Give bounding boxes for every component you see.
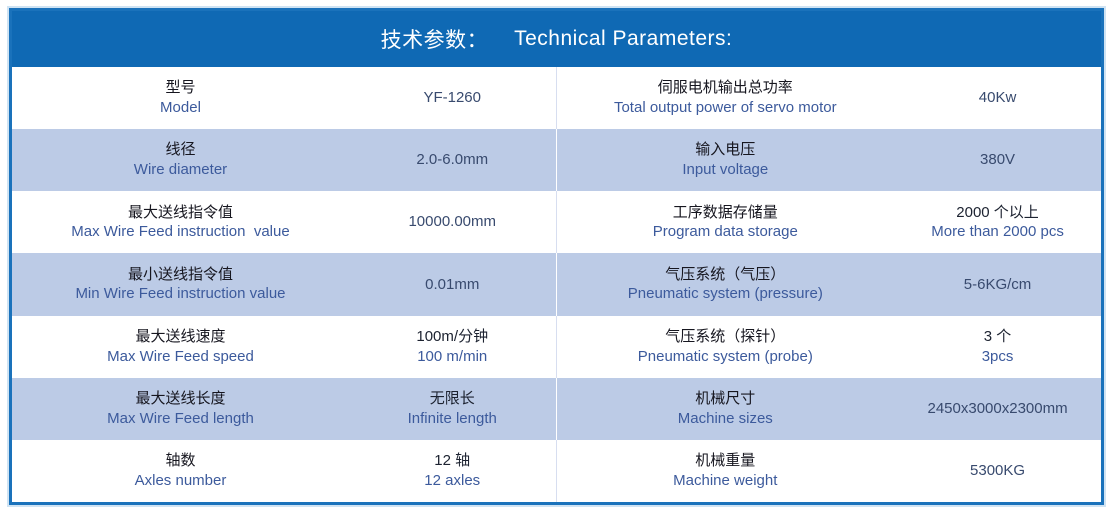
spec-cell-left: 轴数 Axles number 12 轴 12 axles	[12, 440, 557, 502]
spec-label: 气压系统（探针） Pneumatic system (probe)	[557, 327, 895, 367]
spec-label: 轴数 Axles number	[12, 451, 349, 491]
spec-cell-right: 气压系统（气压） Pneumatic system (pressure) 5-6…	[557, 253, 1102, 315]
technical-parameters-table: 技术参数： Technical Parameters: 型号 Model YF-…	[9, 8, 1104, 505]
spec-label-cn: 机械尺寸	[563, 389, 889, 409]
spec-label-en: Total output power of servo motor	[563, 98, 889, 118]
spec-value: 40Kw	[894, 88, 1101, 108]
spec-value-en: Infinite length	[355, 409, 550, 429]
table-row: 最小送线指令值 Min Wire Feed instruction value …	[12, 253, 1101, 315]
spec-label-en: Wire diameter	[18, 160, 343, 180]
spec-label-cn: 伺服电机输出总功率	[563, 78, 889, 98]
spec-label-cn: 输入电压	[563, 140, 889, 160]
spec-value: 100m/分钟 100 m/min	[349, 327, 556, 367]
spec-label-en: Min Wire Feed instruction value	[18, 284, 343, 304]
spec-label: 最大送线指令值 Max Wire Feed instruction value	[12, 203, 349, 243]
spec-cell-left: 最小送线指令值 Min Wire Feed instruction value …	[12, 253, 557, 315]
spec-value-en: 3pcs	[900, 347, 1095, 367]
spec-value-cn: 2.0-6.0mm	[355, 150, 550, 170]
spec-label-en: Axles number	[18, 471, 343, 491]
spec-label-en: Pneumatic system (pressure)	[563, 284, 889, 304]
table-row: 轴数 Axles number 12 轴 12 axles 机械重量 Machi…	[12, 440, 1101, 502]
table-row: 线径 Wire diameter 2.0-6.0mm 输入电压 Input vo…	[12, 129, 1101, 191]
spec-value-en: 12 axles	[355, 471, 550, 491]
spec-cell-right: 工序数据存储量 Program data storage 2000 个以上 Mo…	[557, 191, 1102, 253]
spec-label-cn: 机械重量	[563, 451, 889, 471]
spec-cell-right: 伺服电机输出总功率 Total output power of servo mo…	[557, 67, 1102, 129]
spec-label-en: Max Wire Feed instruction value	[18, 222, 343, 242]
spec-cell-left: 线径 Wire diameter 2.0-6.0mm	[12, 129, 557, 191]
spec-value: 5-6KG/cm	[894, 275, 1101, 295]
spec-label-cn: 型号	[18, 78, 343, 98]
spec-label-en: Max Wire Feed speed	[18, 347, 343, 367]
header-title-en: Technical Parameters:	[514, 27, 732, 51]
spec-value-cn: YF-1260	[355, 88, 550, 108]
spec-cell-right: 气压系统（探针） Pneumatic system (probe) 3 个 3p…	[557, 316, 1102, 378]
table-row: 最大送线速度 Max Wire Feed speed 100m/分钟 100 m…	[12, 316, 1101, 378]
spec-cell-left: 型号 Model YF-1260	[12, 67, 557, 129]
spec-label: 最大送线速度 Max Wire Feed speed	[12, 327, 349, 367]
spec-label-en: Input voltage	[563, 160, 889, 180]
spec-cell-right: 机械尺寸 Machine sizes 2450x3000x2300mm	[557, 378, 1102, 440]
spec-label-cn: 最大送线指令值	[18, 203, 343, 223]
spec-cell-right: 机械重量 Machine weight 5300KG	[557, 440, 1102, 502]
spec-label: 气压系统（气压） Pneumatic system (pressure)	[557, 265, 895, 305]
spec-cell-left: 最大送线长度 Max Wire Feed length 无限长 Infinite…	[12, 378, 557, 440]
spec-label: 伺服电机输出总功率 Total output power of servo mo…	[557, 78, 895, 118]
spec-cell-right: 输入电压 Input voltage 380V	[557, 129, 1102, 191]
spec-value: 12 轴 12 axles	[349, 451, 556, 491]
spec-value: 380V	[894, 150, 1101, 170]
spec-label-cn: 最大送线速度	[18, 327, 343, 347]
spec-label-cn: 气压系统（气压）	[563, 265, 889, 285]
spec-value-cn: 0.01mm	[355, 275, 550, 295]
spec-value: 5300KG	[894, 461, 1101, 481]
spec-cell-left: 最大送线速度 Max Wire Feed speed 100m/分钟 100 m…	[12, 316, 557, 378]
spec-value: YF-1260	[349, 88, 556, 108]
spec-label-cn: 最小送线指令值	[18, 265, 343, 285]
spec-label-cn: 最大送线长度	[18, 389, 343, 409]
spec-label-cn: 工序数据存储量	[563, 203, 889, 223]
spec-label: 输入电压 Input voltage	[557, 140, 895, 180]
spec-value-en: More than 2000 pcs	[900, 222, 1095, 242]
spec-value: 2000 个以上 More than 2000 pcs	[894, 203, 1101, 243]
spec-label: 最大送线长度 Max Wire Feed length	[12, 389, 349, 429]
header-title-cn: 技术参数：	[381, 24, 489, 54]
spec-value: 3 个 3pcs	[894, 327, 1101, 367]
spec-value-en: 100 m/min	[355, 347, 550, 367]
spec-label: 线径 Wire diameter	[12, 140, 349, 180]
spec-label-en: Max Wire Feed length	[18, 409, 343, 429]
spec-value-cn: 无限长	[355, 389, 550, 409]
spec-value-cn: 5300KG	[900, 461, 1095, 481]
spec-label-en: Model	[18, 98, 343, 118]
spec-value-cn: 5-6KG/cm	[900, 275, 1095, 295]
spec-label: 机械尺寸 Machine sizes	[557, 389, 895, 429]
spec-value-cn: 3 个	[900, 327, 1095, 347]
spec-label: 机械重量 Machine weight	[557, 451, 895, 491]
spec-value-cn: 2450x3000x2300mm	[900, 399, 1095, 419]
spec-value-cn: 10000.00mm	[355, 212, 550, 232]
spec-label-cn: 轴数	[18, 451, 343, 471]
table-row: 型号 Model YF-1260 伺服电机输出总功率 Total output …	[12, 67, 1101, 129]
table-row: 最大送线长度 Max Wire Feed length 无限长 Infinite…	[12, 378, 1101, 440]
spec-value: 2.0-6.0mm	[349, 150, 556, 170]
spec-value-cn: 380V	[900, 150, 1095, 170]
spec-cell-left: 最大送线指令值 Max Wire Feed instruction value …	[12, 191, 557, 253]
spec-label-en: Pneumatic system (probe)	[563, 347, 889, 367]
spec-value-cn: 12 轴	[355, 451, 550, 471]
spec-label: 工序数据存储量 Program data storage	[557, 203, 895, 243]
spec-value-cn: 2000 个以上	[900, 203, 1095, 223]
spec-value-cn: 100m/分钟	[355, 327, 550, 347]
spec-label-cn: 线径	[18, 140, 343, 160]
spec-value: 10000.00mm	[349, 212, 556, 232]
spec-label-cn: 气压系统（探针）	[563, 327, 889, 347]
table-body: 型号 Model YF-1260 伺服电机输出总功率 Total output …	[12, 67, 1101, 502]
spec-value: 2450x3000x2300mm	[894, 399, 1101, 419]
spec-label-en: Program data storage	[563, 222, 889, 242]
table-header: 技术参数： Technical Parameters:	[12, 11, 1101, 67]
spec-value: 0.01mm	[349, 275, 556, 295]
spec-value-cn: 40Kw	[900, 88, 1095, 108]
spec-label-en: Machine sizes	[563, 409, 889, 429]
spec-label: 型号 Model	[12, 78, 349, 118]
table-row: 最大送线指令值 Max Wire Feed instruction value …	[12, 191, 1101, 253]
spec-label: 最小送线指令值 Min Wire Feed instruction value	[12, 265, 349, 305]
spec-label-en: Machine weight	[563, 471, 889, 491]
spec-value: 无限长 Infinite length	[349, 389, 556, 429]
